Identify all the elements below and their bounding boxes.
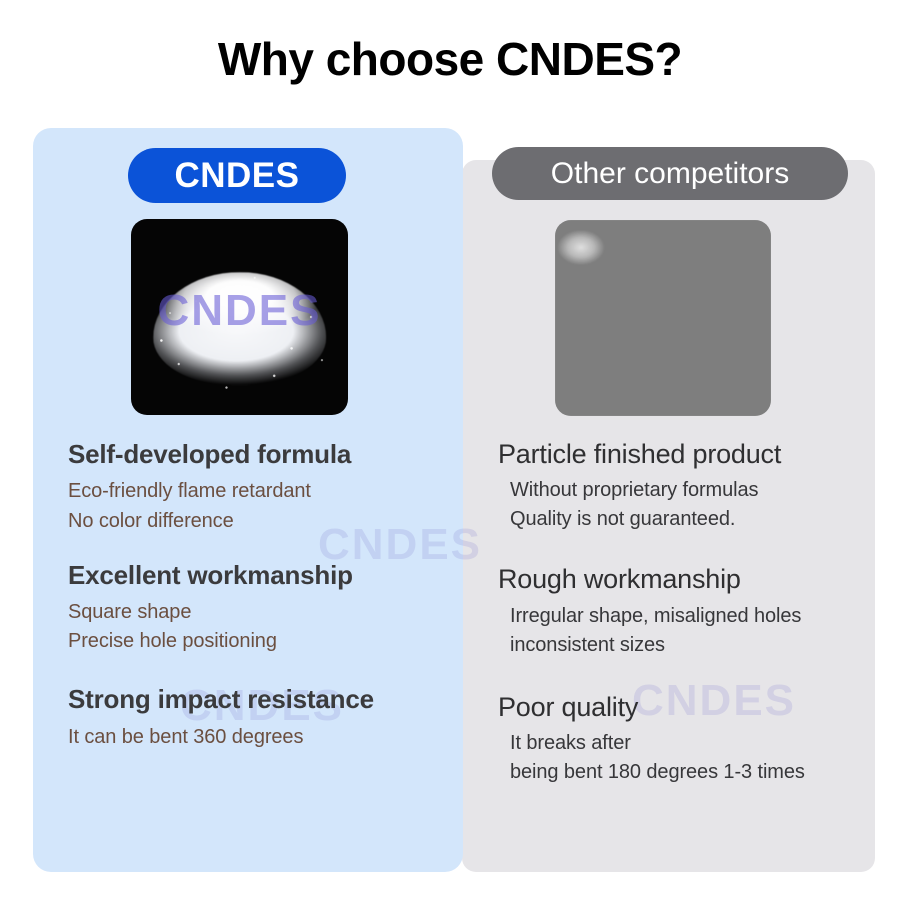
feature-line: Precise hole positioning [68, 627, 458, 656]
feature-line: Quality is not guaranteed. [510, 505, 870, 534]
cndes-badge: CNDES [128, 148, 346, 203]
feature-line: Irregular shape, misaligned holes [510, 602, 870, 631]
competitor-feature-list: Particle finished product Without propri… [498, 437, 870, 787]
feature-item: Self-developed formula Eco-friendly flam… [68, 437, 458, 536]
feature-line: It breaks after [510, 729, 870, 758]
feature-item: Strong impact resistance It can be bent … [68, 682, 458, 752]
feature-line: No color difference [68, 507, 458, 536]
feature-line: being bent 180 degrees 1-3 times [510, 758, 870, 787]
feature-heading: Excellent workmanship [68, 558, 458, 592]
grey-pellets-product-photo [555, 220, 771, 416]
cndes-feature-list: Self-developed formula Eco-friendly flam… [68, 437, 458, 752]
infographic-canvas: Why choose CNDES? CNDES CNDES CNDES CNDE… [0, 0, 900, 900]
feature-heading: Strong impact resistance [68, 682, 458, 716]
white-powder-product-photo: CNDES [131, 219, 348, 415]
page-title: Why choose CNDES? [0, 34, 900, 85]
feature-heading: Self-developed formula [68, 437, 458, 471]
feature-line: Without proprietary formulas [510, 476, 870, 505]
image-watermark: CNDES [131, 286, 348, 336]
feature-item: Excellent workmanship Square shape Preci… [68, 558, 458, 657]
pellet-texture [555, 220, 771, 416]
feature-item: Poor quality It breaks after being bent … [498, 690, 870, 787]
feature-item: Particle finished product Without propri… [498, 437, 870, 534]
competitor-badge: Other competitors [492, 147, 848, 200]
feature-heading: Particle finished product [498, 437, 870, 472]
feature-line: Eco-friendly flame retardant [68, 477, 458, 506]
feature-heading: Poor quality [498, 690, 870, 725]
feature-line: inconsistent sizes [510, 631, 870, 660]
feature-item: Rough workmanship Irregular shape, misal… [498, 562, 870, 659]
feature-heading: Rough workmanship [498, 562, 870, 597]
feature-line: Square shape [68, 598, 458, 627]
feature-line: It can be bent 360 degrees [68, 723, 458, 752]
